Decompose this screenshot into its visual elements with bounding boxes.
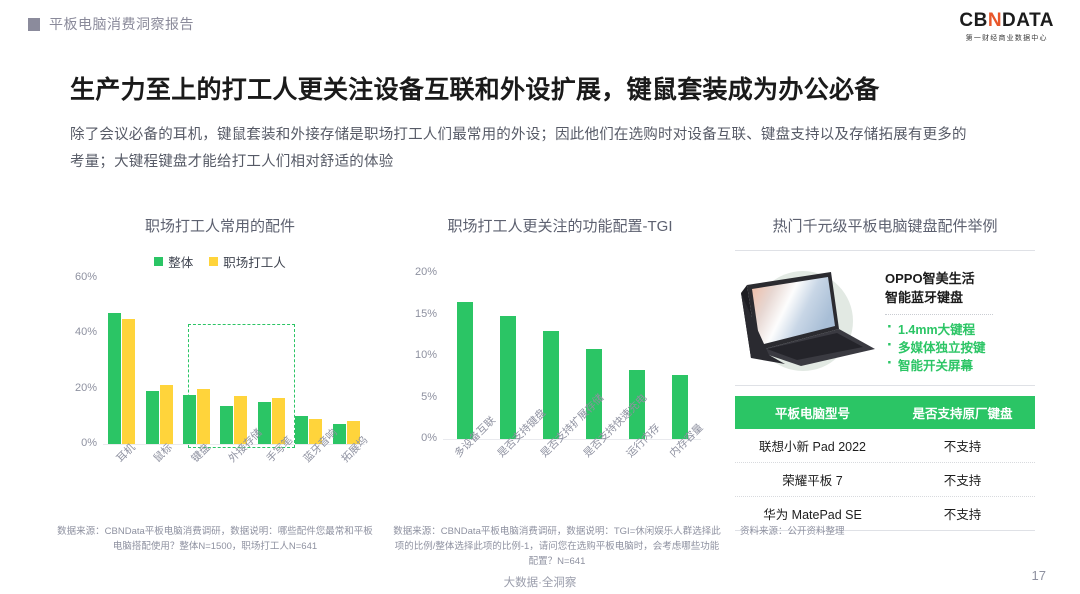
table-header-model: 平板电脑型号 bbox=[735, 396, 890, 429]
product-info: OPPO智美生活 智能蓝牙键盘 1.4mm大键程多媒体独立按键智能开关屏幕 bbox=[881, 263, 1035, 381]
chart1-bar-group bbox=[140, 385, 177, 443]
chart2-y-tick: 0% bbox=[421, 432, 437, 444]
chart1-bar bbox=[122, 319, 135, 444]
logo-wordmark: CBNDATA bbox=[959, 11, 1054, 30]
table-header-row: 平板电脑型号 是否支持原厂键盘 bbox=[735, 396, 1035, 429]
chart2-bar bbox=[500, 316, 516, 439]
product-name-line2: 智能蓝牙键盘 bbox=[885, 288, 1035, 307]
table-cell-model: 联想小新 Pad 2022 bbox=[735, 429, 890, 463]
chart1-bar bbox=[295, 416, 308, 444]
chart1-bar-group bbox=[103, 313, 140, 443]
keyboard-examples-panel: 热门千元级平板电脑键盘配件举例 bbox=[735, 205, 1035, 531]
chart1-bar bbox=[146, 391, 159, 444]
product-image bbox=[735, 263, 881, 377]
legend-item-workers: 职场打工人 bbox=[209, 252, 286, 271]
table-header-support: 是否支持原厂键盘 bbox=[890, 396, 1035, 429]
panel3-title: 热门千元级平板电脑键盘配件举例 bbox=[735, 205, 1035, 236]
table-cell-support: 不支持 bbox=[890, 463, 1035, 497]
product-feature-item: 智能开关屏幕 bbox=[885, 357, 1035, 375]
chart1-bar bbox=[160, 385, 173, 443]
keyboard-support-table: 平板电脑型号 是否支持原厂键盘 联想小新 Pad 2022不支持荣耀平板 7不支… bbox=[735, 396, 1035, 531]
chart-panel-accessories: 职场打工人常用的配件 整体 职场打工人 60%40%20%0% 耳 bbox=[55, 205, 385, 477]
breadcrumb-label: 平板电脑消费洞察报告 bbox=[49, 14, 194, 34]
chart1-footnote: 数据来源：CBNData平板电脑消费调研，数据说明：哪些配件您最常和平板电脑搭配… bbox=[55, 524, 375, 554]
table-body: 联想小新 Pad 2022不支持荣耀平板 7不支持华为 MatePad SE不支… bbox=[735, 429, 1035, 531]
chart2-footnote: 数据来源：CBNData平板电脑消费调研，数据说明：TGI=休闲娱乐人群选择此项… bbox=[392, 524, 722, 569]
chart-panel-tgi: 职场打工人更关注的功能配置-TGI 20%15%10%5%0% 多设备互联是否支… bbox=[395, 205, 725, 482]
chart2-bar bbox=[457, 302, 473, 439]
cbndata-logo: CBNDATA 第一财经商业数据中心 bbox=[959, 11, 1054, 43]
chart1-title: 职场打工人常用的配件 bbox=[55, 205, 385, 238]
slide-root: 平板电脑消费洞察报告 CBNDATA 第一财经商业数据中心 生产力至上的打工人更… bbox=[0, 0, 1080, 594]
panel3-footnote: 资料来源：公开资料整理 bbox=[740, 524, 1040, 539]
chart1-y-tick: 20% bbox=[75, 382, 97, 394]
page-number: 17 bbox=[1032, 568, 1046, 583]
product-feature-list: 1.4mm大键程多媒体独立按键智能开关屏幕 bbox=[885, 321, 1035, 375]
legend-swatch-workers bbox=[209, 257, 218, 266]
panel3-divider-mid bbox=[735, 385, 1035, 386]
chart1-x-axis-labels: 耳机鼠标键盘外接存储手写笔蓝牙音响拓展坞 bbox=[103, 449, 365, 509]
chart2-y-tick: 10% bbox=[415, 349, 437, 361]
chart2-bar bbox=[672, 375, 688, 439]
product-feature-item: 1.4mm大键程 bbox=[885, 321, 1035, 339]
table-row: 荣耀平板 7不支持 bbox=[735, 463, 1035, 497]
chart1-y-tick: 0% bbox=[81, 437, 97, 449]
product-feature-item: 多媒体独立按键 bbox=[885, 339, 1035, 357]
breadcrumb: 平板电脑消费洞察报告 bbox=[28, 14, 194, 34]
chart1-plot-area bbox=[103, 277, 365, 445]
logo-part-b: DATA bbox=[1002, 10, 1054, 31]
logo-part-a: CB bbox=[959, 10, 987, 31]
chart2-canvas: 20%15%10%5%0% 多设备互联是否支持键盘是否支持扩展存储是否支持快速充… bbox=[395, 272, 725, 482]
chart1-legend: 整体 职场打工人 bbox=[55, 252, 385, 271]
chart2-x-axis-labels: 多设备互联是否支持键盘是否支持扩展存储是否支持快速充电运行内存内存容量 bbox=[443, 444, 701, 506]
chart2-title: 职场打工人更关注的功能配置-TGI bbox=[395, 205, 725, 238]
table-cell-support: 不支持 bbox=[890, 429, 1035, 463]
chart1-bar bbox=[108, 313, 121, 443]
slide-header: 平板电脑消费洞察报告 CBNDATA 第一财经商业数据中心 bbox=[0, 0, 1080, 48]
product-block: OPPO智美生活 智能蓝牙键盘 1.4mm大键程多媒体独立按键智能开关屏幕 bbox=[735, 263, 1035, 381]
logo-part-n: N bbox=[988, 10, 1002, 31]
tablet-with-keyboard-icon bbox=[735, 263, 881, 377]
table-row: 联想小新 Pad 2022不支持 bbox=[735, 429, 1035, 463]
chart1-bar-group bbox=[178, 389, 215, 444]
page-title: 生产力至上的打工人更关注设备互联和外设扩展，键鼠套装成为办公必备 bbox=[70, 70, 1010, 106]
chart1-bar bbox=[220, 406, 233, 443]
chart1-y-tick: 60% bbox=[75, 271, 97, 283]
legend-label-overall: 整体 bbox=[168, 252, 193, 271]
chart2-y-axis: 20%15%10%5%0% bbox=[395, 272, 437, 440]
legend-item-overall: 整体 bbox=[154, 252, 193, 271]
chart2-bar-group bbox=[443, 302, 486, 439]
legend-swatch-overall bbox=[154, 257, 163, 266]
table-cell-model: 荣耀平板 7 bbox=[735, 463, 890, 497]
chart2-y-tick: 5% bbox=[421, 391, 437, 403]
chart1-bar bbox=[197, 389, 210, 444]
product-dotted-divider bbox=[885, 314, 993, 315]
bullet-square-icon bbox=[28, 18, 40, 31]
tagline: 大数据·全洞察 bbox=[0, 574, 1080, 590]
chart1-canvas: 60%40%20%0% 耳机鼠标键盘外接存储手写笔蓝牙音响拓展坞 bbox=[55, 277, 385, 477]
chart1-bar bbox=[183, 395, 196, 443]
chart2-bar bbox=[543, 331, 559, 439]
chart1-bar-groups bbox=[103, 278, 365, 444]
chart1-y-tick: 40% bbox=[75, 326, 97, 338]
legend-label-workers: 职场打工人 bbox=[223, 252, 286, 271]
logo-subtitle: 第一财经商业数据中心 bbox=[959, 33, 1054, 43]
chart2-y-tick: 15% bbox=[415, 308, 437, 320]
chart1-y-axis: 60%40%20%0% bbox=[55, 277, 97, 445]
product-name-line1: OPPO智美生活 bbox=[885, 269, 1035, 288]
page-subtitle: 除了会议必备的耳机，键鼠套装和外接存储是职场打工人们最常用的外设；因此他们在选购… bbox=[70, 122, 970, 176]
panel3-divider-top bbox=[735, 250, 1035, 251]
chart2-y-tick: 20% bbox=[415, 266, 437, 278]
